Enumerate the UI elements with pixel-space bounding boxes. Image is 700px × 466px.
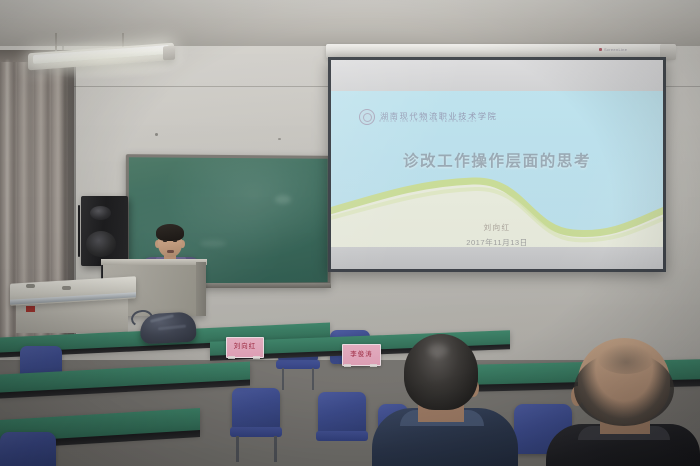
slide-wave-graphic [331, 167, 663, 247]
slide-title: 诊改工作操作层面的思考 [331, 149, 663, 171]
chalk-smudge [275, 195, 291, 204]
lectern-side-panel [196, 262, 206, 316]
ceiling [0, 0, 700, 46]
lectern-mark [152, 280, 158, 289]
presenter-eye [163, 240, 167, 242]
screen-brand-label: ScreenLine [604, 47, 627, 52]
nameplate-stand [370, 364, 377, 367]
presenter-eye [173, 240, 177, 242]
light-end-cap [163, 46, 175, 61]
projector-screen-surface: 湖南现代物流职业技术学院 HUNAN INSTITUTE OF TECHNOLO… [331, 60, 663, 269]
nameplate: 李俊涛 [342, 344, 381, 366]
screen-blank-bottom [331, 247, 663, 269]
audience-right-hair [574, 352, 674, 426]
nameplate: 刘向红 [226, 337, 264, 358]
nameplate-label: 刘向红 [234, 344, 256, 350]
chair-leg [282, 368, 284, 390]
chair-leg [312, 368, 314, 390]
wall-mark [278, 138, 281, 140]
speaker-tweeter-icon [90, 206, 111, 220]
speaker-cable [78, 205, 80, 257]
nameplate-stand [344, 364, 351, 367]
slide-author: 刘向红 [331, 222, 663, 233]
institution-logo: 湖南现代物流职业技术学院 [359, 107, 559, 127]
chalk-smudge [200, 240, 226, 247]
university-seal-icon [359, 109, 375, 125]
chair-seat [316, 431, 368, 441]
nameplate-stand [253, 356, 260, 359]
brand-logo-icon [599, 48, 602, 51]
chair-leg [274, 436, 277, 462]
wall-mark [155, 133, 158, 136]
chair-backrest [318, 392, 366, 434]
slide-date: 2017年11月13日 [331, 237, 663, 247]
chair-backrest [0, 432, 56, 466]
presenter-hair [156, 224, 184, 241]
chair-backrest [232, 388, 280, 430]
console-knob[interactable] [26, 284, 35, 288]
presenter-mouth [167, 250, 174, 253]
cabinet-warning-label [26, 306, 35, 312]
presentation-slide: 湖南现代物流职业技术学院 HUNAN INSTITUTE OF TECHNOLO… [331, 91, 663, 247]
speaker-woofer-icon [86, 231, 116, 257]
screen-blank-top [331, 60, 663, 91]
nameplate-label: 李俊涛 [350, 352, 372, 358]
hair-highlight [428, 344, 448, 357]
curtain-fold [6, 60, 9, 340]
institution-name-en: HUNAN INSTITUTE OF TECHNOLOGY [379, 119, 478, 123]
chair-leg [236, 436, 239, 462]
nameplate-stand [228, 356, 235, 359]
lectern-top [101, 259, 207, 265]
console-knob[interactable] [62, 286, 71, 290]
classroom-scene: ScreenLine 湖南现代物流职业技术学院 HUNAN INSTITUTE … [0, 0, 700, 466]
